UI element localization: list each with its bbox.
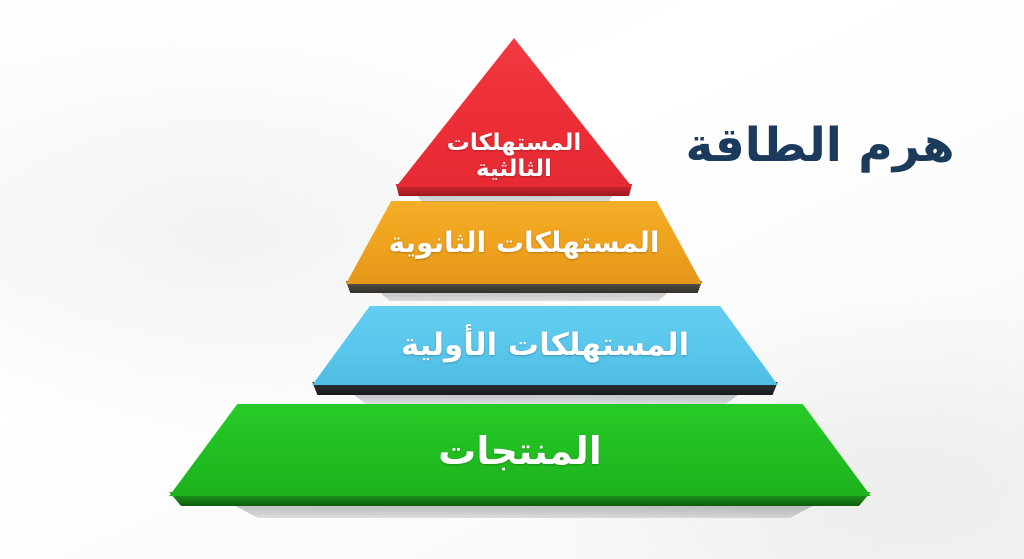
pyramid-level-producers[interactable]: المنتجات [150, 404, 890, 516]
pyramid-diagram: المنتجات المستهلكات الأولية المستهلكات ا… [0, 0, 1024, 559]
producers-face [150, 404, 890, 496]
primary-consumers-face [305, 306, 785, 385]
page-title: هرم الطاقة [650, 118, 990, 173]
pyramid-level-tertiary-consumers[interactable]: المستهلكات الثالثية [390, 38, 638, 204]
energy-pyramid-infographic: المنتجات المستهلكات الأولية المستهلكات ا… [0, 0, 1024, 559]
secondary-consumers-face [340, 201, 708, 284]
tertiary-consumers-face [390, 38, 638, 187]
pyramid-level-secondary-consumers[interactable]: المستهلكات الثانوية [340, 201, 708, 305]
pyramid-level-primary-consumers[interactable]: المستهلكات الأولية [305, 306, 785, 406]
